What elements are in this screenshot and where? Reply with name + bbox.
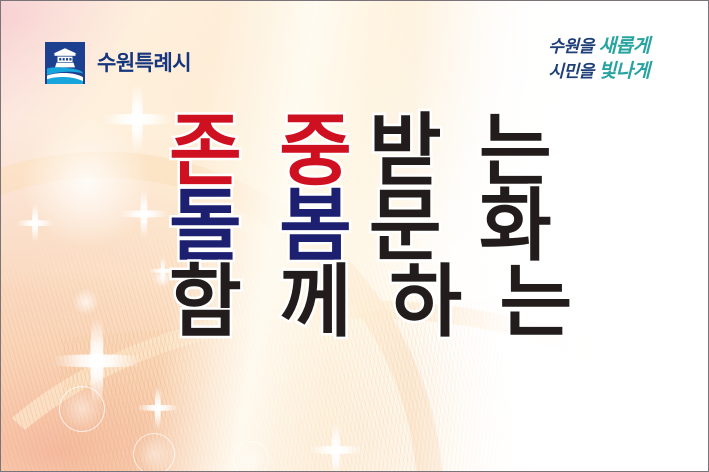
headline-line-2-accent: 돌 봄 <box>169 188 357 265</box>
suwon-city-emblem-icon <box>45 42 85 84</box>
headline-line-1: 존 중 받 는 <box>169 113 589 190</box>
headline-line-2: 돌 봄 문 화 <box>169 188 589 265</box>
slogan-line-2-dark: 시민을 <box>548 62 593 82</box>
slogan-line-1-accent: 새롭게 <box>599 35 650 57</box>
slogan-line-1: 수원을새롭게 <box>522 35 676 58</box>
banner-header: 수원특례시 수원을새롭게 시민을빛나게 <box>1 1 708 109</box>
headline-line-3: 함 께 하 는 <box>169 264 589 341</box>
bokeh-circle <box>133 433 175 472</box>
bokeh-circle <box>59 386 105 432</box>
headline-line-3-rest: 함 께 하 는 <box>169 264 577 341</box>
headline-line-1-accent: 존 중 <box>169 113 357 190</box>
banner-root: 수원특례시 수원을새롭게 시민을빛나게 존 중 받 는 돌 봄 문 화 함 께 … <box>0 0 709 472</box>
slogan-line-2-accent: 빛나게 <box>599 60 650 82</box>
headline-line-2-rest: 문 화 <box>369 188 557 265</box>
headline-block: 존 중 받 는 돌 봄 문 화 함 께 하 는 <box>169 113 589 341</box>
bokeh-circle <box>233 441 269 472</box>
city-wordmark: 수원특례시 <box>97 53 191 74</box>
bokeh-circle <box>23 119 151 247</box>
slogan-line-1-dark: 수원을 <box>548 37 593 57</box>
city-logo-lockup: 수원특례시 <box>45 42 191 84</box>
headline-line-1-rest: 받 는 <box>369 113 557 190</box>
slogan-line-2: 시민을빛나게 <box>522 60 676 83</box>
bokeh-circle <box>73 289 99 315</box>
city-slogan: 수원을새롭게 시민을빛나게 <box>522 35 676 83</box>
